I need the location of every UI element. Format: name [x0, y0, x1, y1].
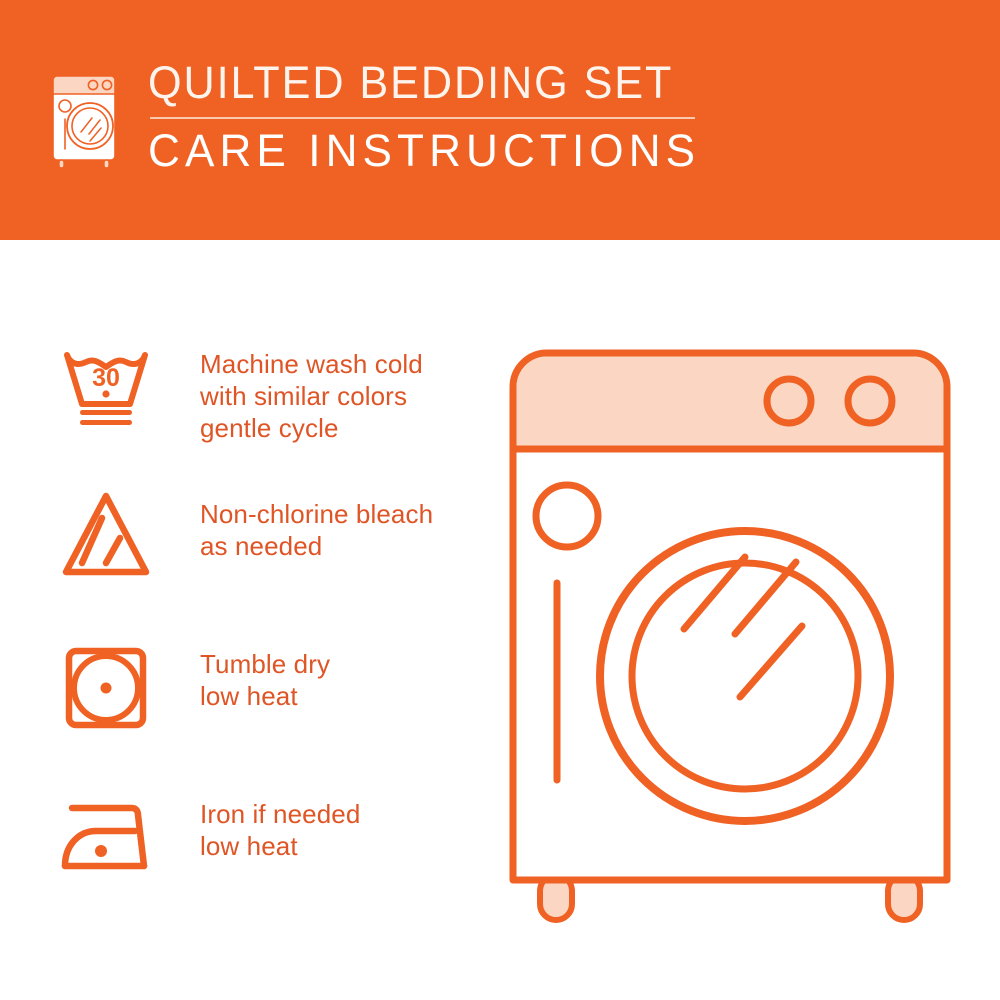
washing-machine-icon: [44, 64, 130, 172]
care-instructions-list: 30 Machine wash cold with similar colors…: [52, 330, 472, 930]
non-chlorine-bleach-icon: [52, 480, 160, 588]
dial-left-icon: [767, 379, 811, 423]
care-text-line: Non-chlorine bleach: [200, 498, 433, 530]
care-text-line: gentle cycle: [200, 412, 423, 444]
wash-temperature-label: 30: [92, 364, 120, 392]
care-text-wash: Machine wash cold with similar colors ge…: [200, 330, 423, 444]
header-content: QUILTED BEDDING SET CARE INSTRUCTIONS: [44, 58, 711, 175]
care-text-line: low heat: [200, 680, 330, 712]
dial-right-icon: [848, 379, 892, 423]
washing-machine-illustration: [495, 335, 965, 925]
header-title-block: QUILTED BEDDING SET CARE INSTRUCTIONS: [148, 58, 711, 175]
page-title: QUILTED BEDDING SET: [148, 58, 689, 108]
care-row-wash: 30 Machine wash cold with similar colors…: [52, 330, 472, 480]
care-row-bleach: Non-chlorine bleach as needed: [52, 480, 472, 630]
page-header: QUILTED BEDDING SET CARE INSTRUCTIONS: [0, 0, 1000, 240]
iron-low-heat-icon: [52, 780, 160, 888]
care-text-line: with similar colors: [200, 380, 423, 412]
care-text-line: low heat: [200, 830, 360, 862]
care-row-tumble-dry: Tumble dry low heat: [52, 630, 472, 780]
care-text-line: Iron if needed: [200, 798, 360, 830]
tumble-dry-low-icon: [52, 630, 160, 738]
machine-wash-cold-icon: 30: [52, 330, 160, 438]
care-text-tumble-dry: Tumble dry low heat: [200, 630, 330, 712]
title-divider: [150, 117, 695, 119]
care-text-bleach: Non-chlorine bleach as needed: [200, 480, 433, 562]
page-subtitle: CARE INSTRUCTIONS: [148, 127, 700, 175]
care-text-line: Tumble dry: [200, 648, 330, 680]
care-text-iron: Iron if needed low heat: [200, 780, 360, 862]
care-text-line: Machine wash cold: [200, 348, 423, 380]
care-row-iron: Iron if needed low heat: [52, 780, 472, 930]
care-text-line: as needed: [200, 530, 433, 562]
